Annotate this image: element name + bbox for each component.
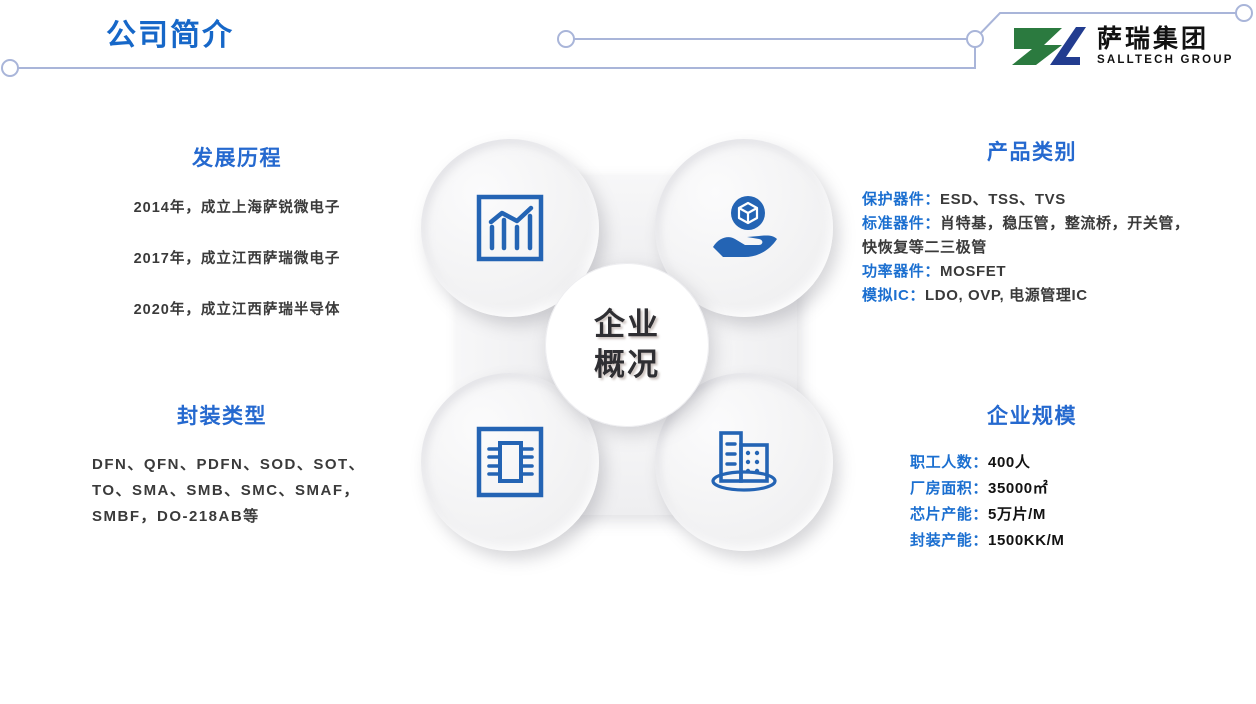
hub-title-line-1: 企业 (594, 305, 660, 345)
scale-row-area: 厂房面积：35000㎡ (862, 476, 1202, 502)
scale-value-area: 35000㎡ (988, 480, 1048, 497)
section-history-title: 发展历程 (72, 142, 402, 172)
scale-label-staff: 职工人数： (910, 454, 988, 471)
company-logo: 萨瑞集团 SALLTECH GROUP (1010, 24, 1234, 69)
section-product-title: 产品类别 (862, 136, 1202, 166)
history-item-1: 2014年，成立上海萨锐微电子 (72, 196, 402, 217)
history-item-3: 2020年，成立江西萨瑞半导体 (72, 298, 402, 319)
package-types-text: DFN、QFN、PDFN、SOD、SOT、TO、SMA、SMB、SMC、SMAF… (72, 452, 372, 530)
hub-title-line-2: 概况 (594, 345, 660, 385)
scale-value-package: 1500KK/M (988, 532, 1065, 549)
section-product-categories: 产品类别 保护器件：ESD、TSS、TVS 标准器件：肖特基，稳压管，整流桥，开… (862, 136, 1202, 308)
logo-en-text: SALLTECH GROUP (1097, 55, 1234, 67)
product-line-2: 标准器件：肖特基，稳压管，整流桥，开关管，快恢复等二三极管 (862, 212, 1202, 260)
slide-root: 公司简介 萨瑞集团 SALLTECH GROUP 发展历程 2014年，成立上海… (0, 0, 1256, 704)
history-item-2: 2017年，成立江西萨瑞微电子 (72, 247, 402, 268)
product-label-1: 保护器件： (862, 191, 940, 208)
section-scale-title: 企业规模 (862, 400, 1202, 430)
section-history: 发展历程 2014年，成立上海萨锐微电子 2017年，成立江西萨瑞微电子 202… (72, 142, 402, 349)
product-label-2: 标准器件： (862, 215, 940, 232)
product-line-1: 保护器件：ESD、TSS、TVS (862, 188, 1202, 212)
logo-cn-text: 萨瑞集团 (1097, 27, 1234, 52)
scale-row-package: 封装产能：1500KK/M (862, 528, 1202, 554)
scale-label-area: 厂房面积： (910, 480, 988, 497)
scale-row-wafer: 芯片产能：5万片/M (862, 502, 1202, 528)
scale-value-staff: 400人 (988, 454, 1030, 471)
scale-label-wafer: 芯片产能： (910, 506, 988, 523)
salltech-logo-mark (1010, 24, 1088, 69)
scale-row-staff: 职工人数：400人 (862, 450, 1202, 476)
product-line-3: 功率器件：MOSFET (862, 260, 1202, 284)
section-package-title: 封装类型 (72, 400, 372, 430)
product-value-1: ESD、TSS、TVS (940, 191, 1066, 208)
product-label-4: 模拟IC： (862, 287, 925, 304)
deco-node-bend (967, 31, 983, 47)
scale-value-wafer: 5万片/M (988, 506, 1046, 523)
deco-node-left (2, 60, 18, 76)
enterprise-overview-diagram: 企业 概况 (413, 131, 841, 559)
product-value-3: MOSFET (940, 263, 1006, 280)
deco-node-mid (558, 31, 574, 47)
buildings-icon (707, 427, 781, 497)
product-value-4: LDO, OVP, 电源管理IC (925, 287, 1088, 304)
page-title: 公司简介 (106, 10, 234, 54)
scale-label-package: 封装产能： (910, 532, 988, 549)
product-line-4: 模拟IC：LDO, OVP, 电源管理IC (862, 284, 1202, 308)
product-label-3: 功率器件： (862, 263, 940, 280)
chip-package-icon (475, 425, 545, 499)
section-enterprise-scale: 企业规模 职工人数：400人 厂房面积：35000㎡ 芯片产能：5万片/M 封装… (862, 400, 1202, 554)
section-package-types: 封装类型 DFN、QFN、PDFN、SOD、SOT、TO、SMA、SMB、SMC… (72, 400, 372, 530)
hand-holding-package-icon (707, 193, 781, 263)
deco-node-top-right (1236, 5, 1252, 21)
diagram-hub: 企业 概况 (545, 263, 709, 427)
bar-chart-growth-icon (475, 193, 545, 263)
